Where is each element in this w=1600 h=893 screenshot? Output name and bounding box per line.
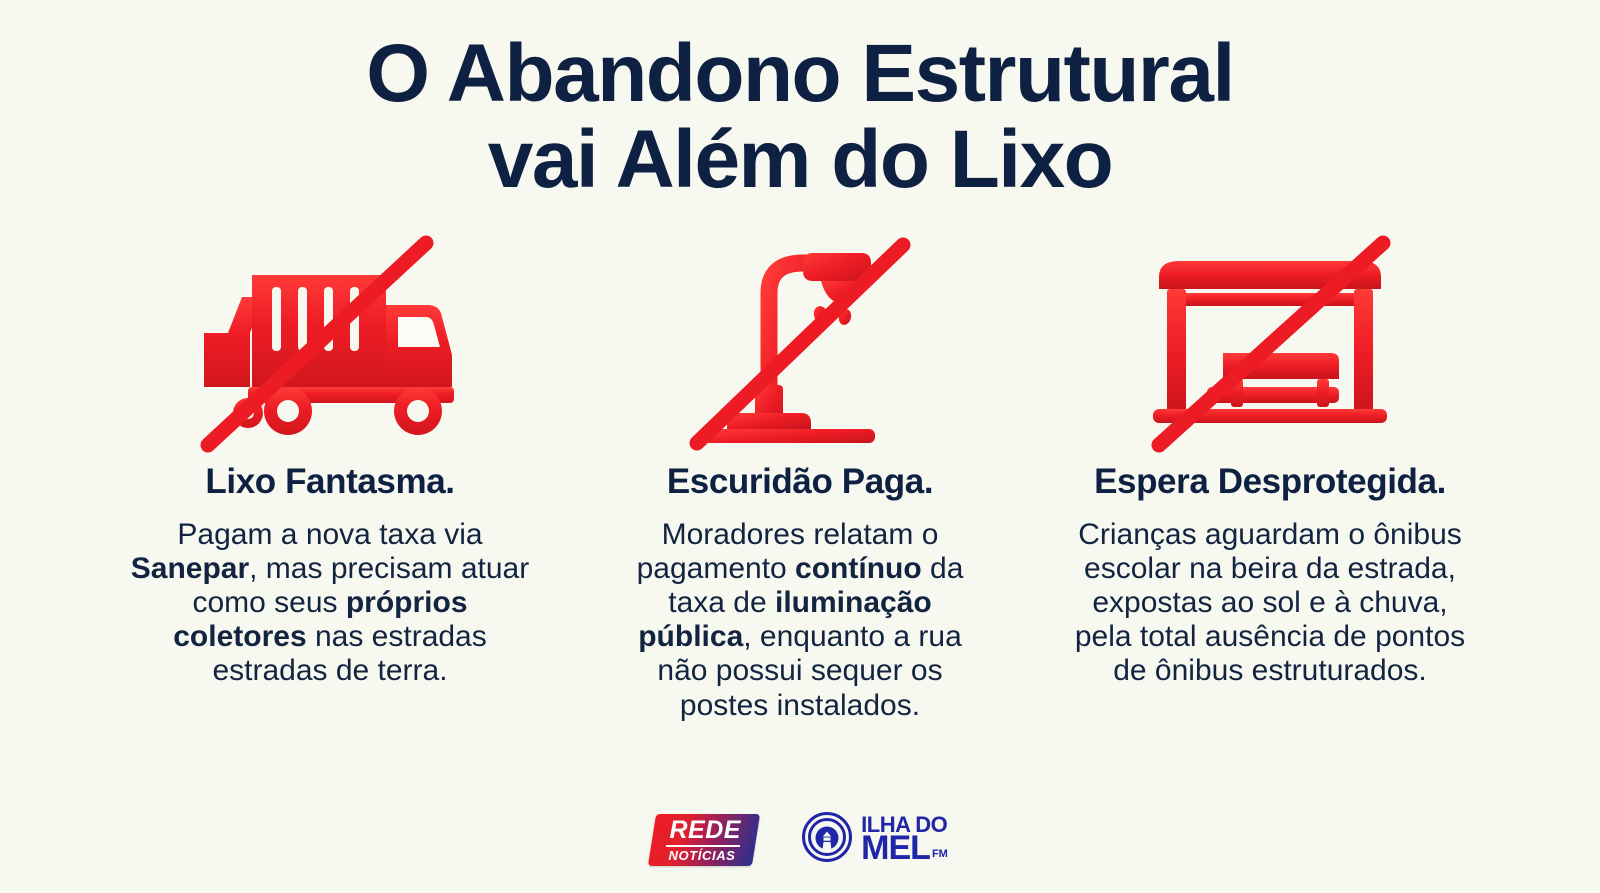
cards-row: Lixo Fantasma. Pagam a nova taxa via San… — [40, 237, 1560, 723]
page-title: O Abandono Estrutural vai Além do Lixo — [80, 34, 1520, 201]
page-title-line-1: O Abandono Estrutural — [80, 34, 1520, 114]
rede-noticias-logo-bottom: NOTÍCIAS — [668, 849, 735, 862]
card-heading: Lixo Fantasma. — [205, 462, 454, 502]
rede-noticias-logo: REDE NOTÍCIAS — [648, 814, 760, 866]
ilha-do-mel-fm-logo: ILHA DO MEL FM — [802, 812, 948, 867]
lighthouse-icon — [802, 812, 852, 867]
ilha-do-mel-fm-suffix: FM — [932, 850, 948, 864]
ilha-do-mel-bottom-text: MEL — [861, 834, 930, 864]
card-escuridao-paga: Escuridão Paga. Moradores relatam o paga… — [570, 237, 1030, 723]
rede-noticias-logo-divider — [666, 845, 740, 847]
infographic-poster: O Abandono Estrutural vai Além do Lixo — [0, 0, 1600, 893]
card-body: Crianças aguardam o ônibus escolar na be… — [1065, 518, 1475, 689]
no-streetlight-icon — [650, 237, 950, 452]
ilha-do-mel-wordmark: ILHA DO MEL FM — [861, 815, 948, 864]
card-body: Moradores relatam o pagamento contínuo d… — [615, 518, 985, 723]
card-espera-desprotegida: Espera Desprotegida. Crianças aguardam o… — [1040, 237, 1500, 689]
card-heading: Espera Desprotegida. — [1094, 462, 1446, 502]
card-heading: Escuridão Paga. — [667, 462, 933, 502]
card-body: Pagam a nova taxa via Sanepar, mas preci… — [130, 518, 530, 689]
ilha-do-mel-bottom-row: MEL FM — [861, 834, 948, 864]
footer-logos: REDE NOTÍCIAS — [0, 812, 1600, 867]
rede-noticias-logo-top: REDE — [670, 818, 741, 843]
no-bus-shelter-icon — [1120, 237, 1420, 452]
no-garbage-truck-icon — [180, 237, 480, 452]
card-lixo-fantasma: Lixo Fantasma. Pagam a nova taxa via San… — [100, 237, 560, 689]
page-title-line-2: vai Além do Lixo — [80, 120, 1520, 200]
